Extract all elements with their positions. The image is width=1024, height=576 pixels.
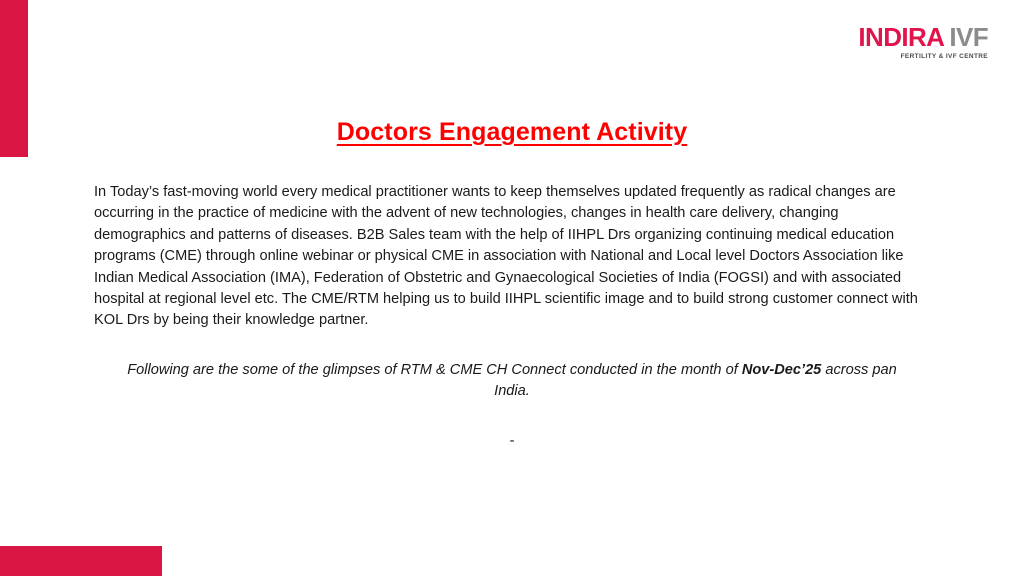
separator-dash: -: [94, 431, 930, 452]
logo-wordmark-ivf: IVF: [949, 22, 988, 52]
page-title: Doctors Engagement Activity: [0, 118, 1024, 147]
body-content: In Today’s fast-moving world every medic…: [94, 182, 930, 452]
logo-tagline: FERTILITY & IVF CENTRE: [858, 54, 988, 61]
slide-canvas: INDIRAIVF FERTILITY & IVF CENTRE Doctors…: [0, 0, 1024, 576]
logo-wordmark-indira: INDIRA: [858, 22, 944, 52]
decorative-bar-bottom-left: [0, 546, 162, 576]
glimpses-period-emphasis: Nov-Dec’25: [742, 362, 822, 378]
logo-wordmark: INDIRAIVF: [858, 24, 988, 50]
indira-ivf-logo: INDIRAIVF FERTILITY & IVF CENTRE: [858, 24, 988, 61]
paragraph-glimpses: Following are the some of the glimpses o…: [94, 360, 930, 403]
glimpses-text-lead: Following are the some of the glimpses o…: [127, 362, 742, 378]
paragraph-intro: In Today’s fast-moving world every medic…: [94, 182, 930, 332]
